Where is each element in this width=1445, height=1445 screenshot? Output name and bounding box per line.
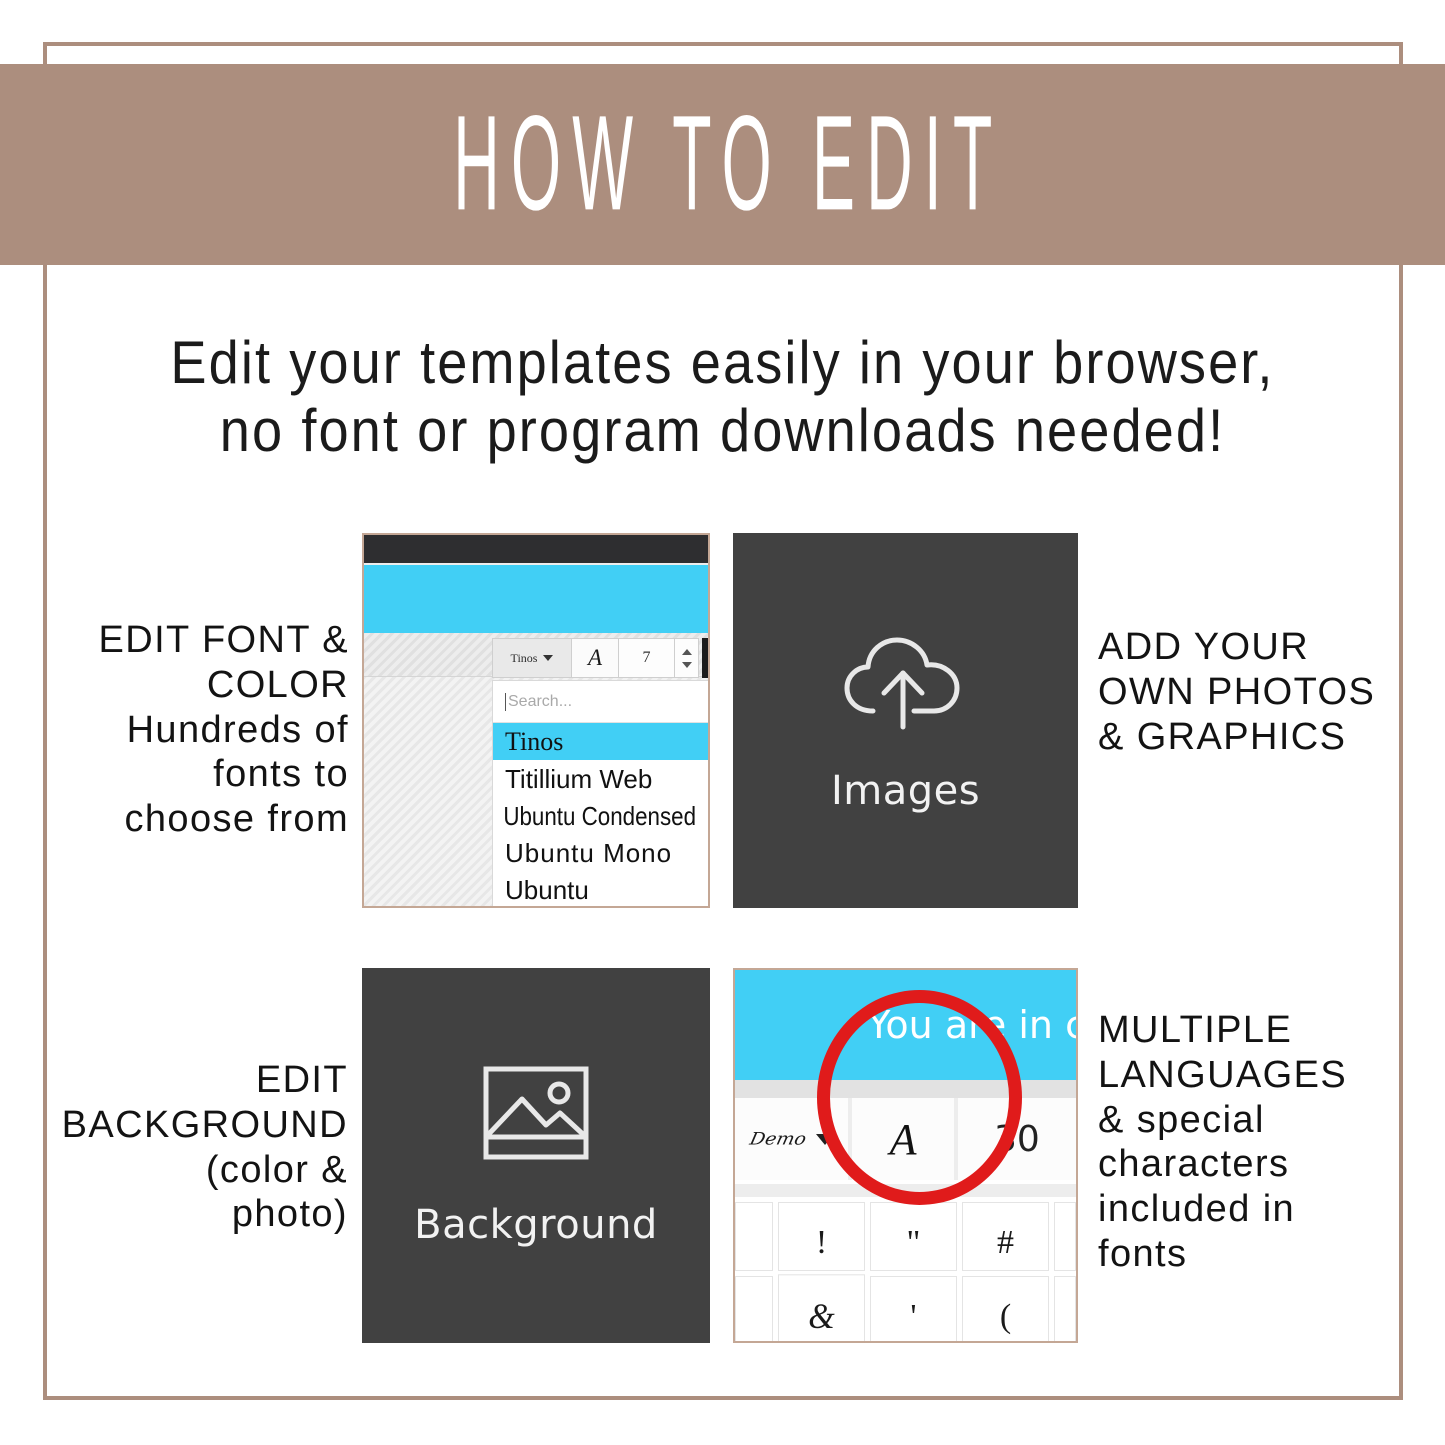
charmap-cell[interactable]: #: [962, 1202, 1049, 1271]
caption-line: Hundreds of: [44, 708, 349, 753]
caption-line: COLOR: [44, 663, 349, 708]
font-family-dropdown: Search... Tinos Titillium Web Ubuntu Con…: [492, 680, 710, 908]
caption-line: photo): [36, 1192, 348, 1237]
font-search-placeholder: Search...: [508, 693, 572, 711]
caption-line: characters: [1098, 1142, 1410, 1187]
red-highlight-circle: [817, 990, 1022, 1205]
charmap-cell[interactable]: [1054, 1276, 1076, 1343]
charmap-cell[interactable]: ': [870, 1276, 957, 1343]
charmap-cell[interactable]: (: [962, 1276, 1049, 1343]
caption-line: fonts to: [44, 752, 349, 797]
text-cursor-icon: [505, 693, 506, 711]
charmap-cell[interactable]: ": [870, 1202, 957, 1271]
background-tile-label: Background: [414, 1202, 658, 1248]
editor-cyan-banner: [364, 565, 708, 633]
charmap-font-value: Demo: [748, 1129, 808, 1149]
charmap-grid: ! " # & ' (: [735, 1184, 1076, 1343]
font-family-value: Tinos: [511, 651, 538, 666]
script-font-button[interactable]: A: [572, 638, 619, 678]
caption-line: fonts: [1098, 1232, 1410, 1277]
screenshot-images-tile[interactable]: Images: [733, 533, 1078, 908]
caption-edit-background: EDIT BACKGROUND (color & photo): [36, 1058, 348, 1237]
caption-line: choose from: [44, 797, 349, 842]
charmap-cell[interactable]: [1054, 1202, 1076, 1271]
caption-line: & GRAPHICS: [1098, 715, 1408, 760]
page-title: HOW TO EDIT: [442, 87, 1003, 242]
font-toolbar: Tinos A 7: [492, 638, 699, 678]
subtitle-line-2: no font or program downloads needed!: [122, 398, 1324, 466]
charmap-cell[interactable]: [735, 1202, 773, 1271]
header-banner: HOW TO EDIT: [0, 64, 1445, 265]
stepper-up-icon[interactable]: [682, 649, 692, 655]
screenshot-character-map: You are in c Demo A 30 ! " # & ' (: [733, 968, 1078, 1343]
font-search-input[interactable]: Search...: [493, 681, 710, 723]
screenshot-font-editor: Tinos A 7 Search... Tinos Titillium Web …: [362, 533, 710, 908]
screenshot-background-tile[interactable]: Background: [362, 968, 710, 1343]
caption-edit-font-color: EDIT FONT & COLOR Hundreds of fonts to c…: [44, 618, 349, 842]
caption-line: ADD YOUR: [1098, 625, 1408, 670]
font-list-item[interactable]: Titillium Web: [493, 760, 710, 797]
cloud-upload-icon: [840, 627, 972, 742]
font-size-stepper[interactable]: [675, 638, 699, 678]
poster-canvas: HOW TO EDIT Edit your templates easily i…: [0, 0, 1445, 1445]
subtitle: Edit your templates easily in your brows…: [122, 330, 1324, 465]
caption-line: BACKGROUND: [36, 1103, 348, 1148]
images-tile-label: Images: [831, 768, 980, 814]
chevron-down-icon: [543, 655, 553, 661]
caption-line: included in: [1098, 1187, 1410, 1232]
editor-titlebar: [364, 535, 708, 563]
caption-multiple-languages: MULTIPLE LANGUAGES & special characters …: [1098, 1008, 1410, 1277]
stepper-down-icon[interactable]: [682, 662, 692, 668]
charmap-cell[interactable]: &: [778, 1274, 865, 1343]
font-list-item[interactable]: Ubuntu Mono: [493, 834, 710, 871]
font-size-input[interactable]: 7: [619, 638, 675, 678]
caption-line: OWN PHOTOS: [1098, 670, 1408, 715]
caption-line: (color &: [36, 1148, 348, 1193]
caption-line: EDIT: [36, 1058, 348, 1103]
font-family-select[interactable]: Tinos: [492, 638, 572, 678]
caption-add-photos: ADD YOUR OWN PHOTOS & GRAPHICS: [1098, 625, 1408, 759]
font-list-item[interactable]: Ubuntu Condensed: [493, 797, 689, 834]
caption-line: LANGUAGES: [1098, 1053, 1410, 1098]
picture-icon: [480, 1063, 592, 1168]
charmap-cell[interactable]: !: [778, 1202, 865, 1271]
font-list-item[interactable]: Ubuntu: [493, 871, 710, 908]
toolbar-edge-tab: [702, 638, 710, 678]
caption-line: & special: [1098, 1098, 1410, 1143]
font-list-item[interactable]: Tinos: [493, 723, 710, 760]
subtitle-line-1: Edit your templates easily in your brows…: [122, 330, 1324, 398]
caption-line: MULTIPLE: [1098, 1008, 1410, 1053]
charmap-cell[interactable]: [735, 1276, 773, 1343]
caption-line: EDIT FONT &: [44, 618, 349, 663]
